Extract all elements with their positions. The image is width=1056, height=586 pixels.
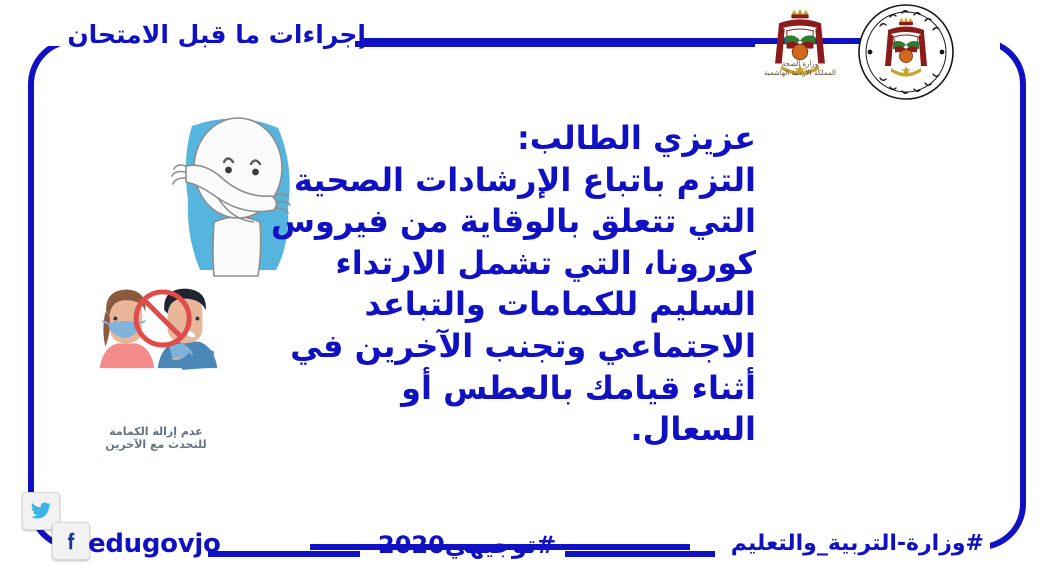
ministry-of-education-emblem — [856, 2, 956, 102]
social-handle[interactable]: edugovjo — [88, 529, 221, 559]
main-message: عزيزي الطالب: التزم باتباع الإرشادات الص… — [268, 118, 756, 451]
ministry-of-health-emblem: وزارة الصحة المملكة الأردنية الهاشمية — [752, 4, 848, 100]
facebook-f-icon — [60, 530, 82, 552]
ministry-of-health-caption: وزارة الصحة المملكة الأردنية الهاشمية — [752, 60, 848, 79]
twitter-bird-icon — [30, 500, 52, 522]
page-title: إجراءات ما قبل الامتحان — [67, 22, 366, 47]
frame-gap-topleft — [22, 30, 68, 46]
header-divider-rule — [355, 41, 755, 47]
health-guidance-poster: إجراءات ما قبل الامتحان وزارة — [0, 0, 1056, 586]
hashtag-ministry-of-education[interactable]: #وزارة-التربية_والتعليم — [731, 531, 984, 556]
mask-caption-line1: عدم إزالة الكمامة — [66, 425, 246, 439]
facebook-link[interactable] — [52, 522, 90, 560]
moh-caption-line2: المملكة الأردنية الهاشمية — [752, 69, 848, 78]
hashtag-tawjihi-2020[interactable]: #توجيهي2020 — [378, 531, 556, 559]
mask-caption-line2: للتحدث مع الآخرين — [66, 438, 246, 452]
do-not-remove-mask-illustration: عدم إزالة الكمامة للتحدث مع الآخرين — [66, 282, 246, 454]
salutation-line: عزيزي الطالب: — [268, 118, 756, 160]
mask-illustration-caption: عدم إزالة الكمامة للتحدث مع الآخرين — [66, 425, 246, 453]
guidance-paragraph: التزم باتباع الإرشادات الصحية التي تتعلق… — [268, 160, 756, 451]
footer-divider-rule-left — [208, 551, 360, 557]
footer-divider-rule-right — [565, 551, 715, 557]
